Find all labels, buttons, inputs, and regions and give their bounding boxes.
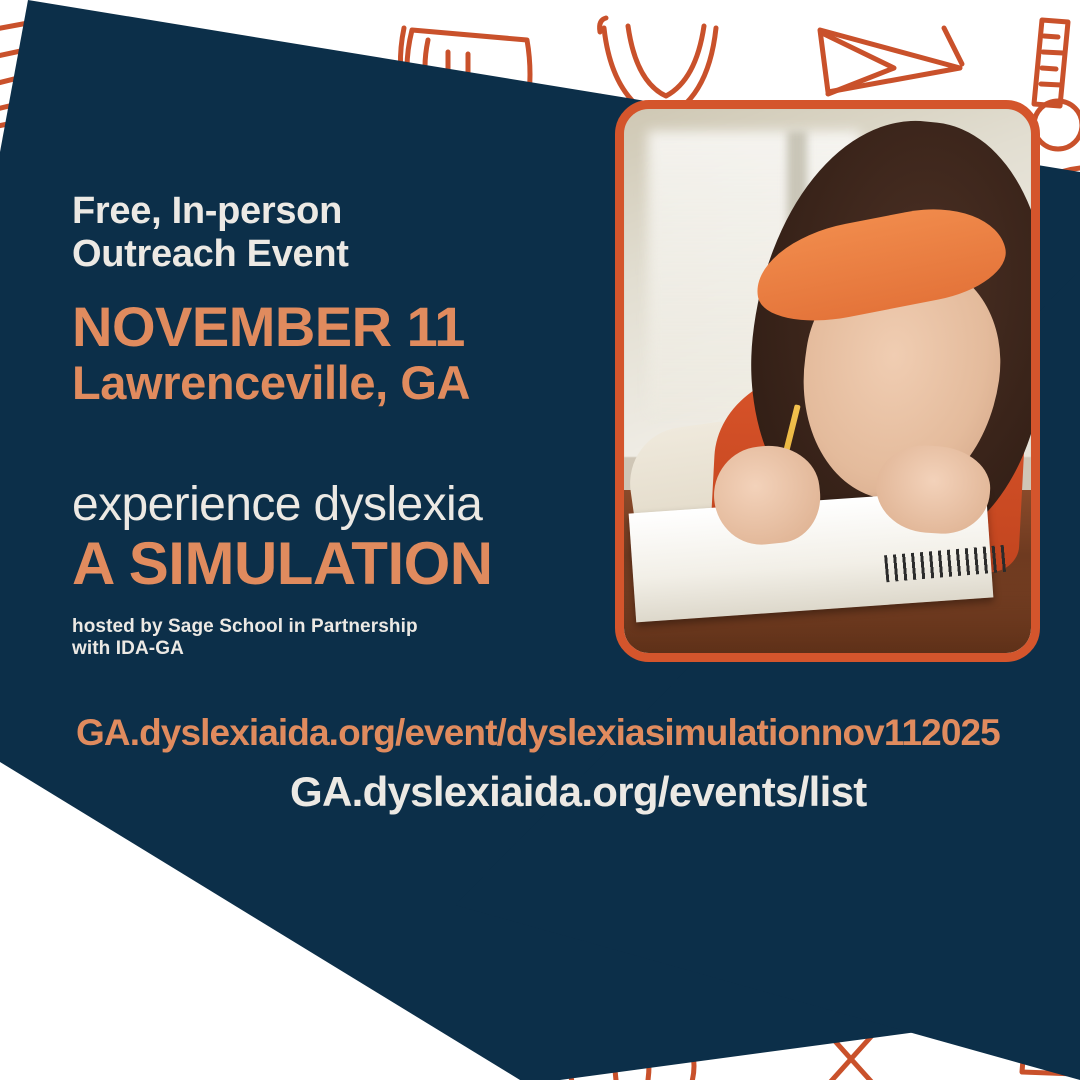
eyebrow-line-2: Outreach Event <box>72 233 349 275</box>
photo-inner <box>624 109 1031 653</box>
text-block: Free, In-person Outreach Event NOVEMBER … <box>72 190 612 661</box>
headline-secondary: A SIMULATION <box>72 533 612 594</box>
event-location: Lawrenceville, GA <box>72 358 612 408</box>
poster-canvas: Free, In-person Outreach Event NOVEMBER … <box>0 0 1080 1080</box>
headline-primary: experience dyslexia <box>72 480 612 530</box>
hosted-by-text: hosted by Sage School in Partnership wit… <box>72 616 612 661</box>
paper-airplane-icon <box>820 28 962 94</box>
event-photo <box>615 100 1040 662</box>
hosted-line-2: with IDA-GA <box>72 638 184 659</box>
hosted-line-1: hosted by Sage School in Partnership <box>72 616 418 637</box>
event-date: NOVEMBER 11 <box>72 297 612 356</box>
event-url-secondary[interactable]: GA.dyslexiaida.org/events/list <box>290 768 867 816</box>
ruler-icon <box>1034 20 1068 106</box>
event-url-primary[interactable]: GA.dyslexiaida.org/event/dyslexiasimulat… <box>76 712 1000 754</box>
event-eyebrow: Free, In-person Outreach Event <box>72 190 612 275</box>
eyebrow-line-1: Free, In-person <box>72 190 342 232</box>
